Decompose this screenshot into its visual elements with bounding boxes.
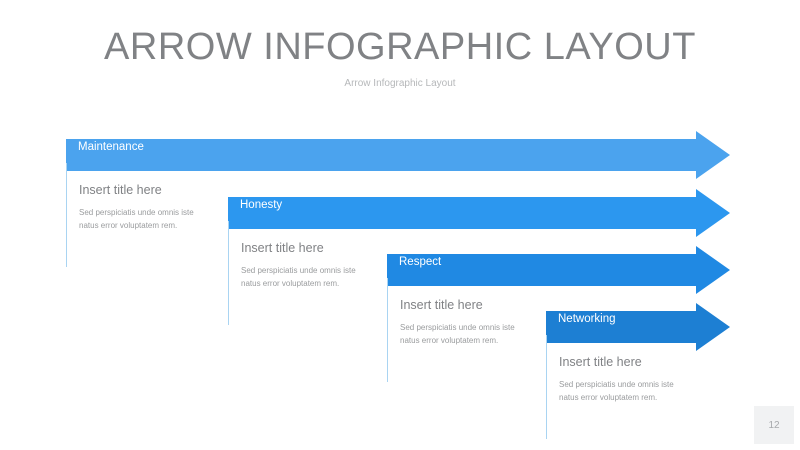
arrow-block-body-2: Sed perspiciatis unde omnis iste natus e…	[241, 264, 361, 290]
arrow-text-block-2: Insert title here Sed perspiciatis unde …	[228, 221, 378, 325]
arrow-block-title-4: Insert title here	[559, 355, 696, 369]
arrow-text-block-4: Insert title here Sed perspiciatis unde …	[546, 335, 696, 439]
page-number: 12	[754, 406, 794, 444]
page-title: ARROW INFOGRAPHIC LAYOUT	[0, 26, 800, 69]
page-subtitle: Arrow Infographic Layout	[0, 78, 800, 89]
arrow-block-body-1: Sed perspiciatis unde omnis iste natus e…	[79, 206, 199, 232]
arrow-block-title-1: Insert title here	[79, 183, 216, 197]
slide-canvas: ARROW INFOGRAPHIC LAYOUT Arrow Infograph…	[0, 0, 800, 450]
arrow-block-title-3: Insert title here	[400, 298, 537, 312]
arrow-block-title-2: Insert title here	[241, 241, 378, 255]
arrow-block-body-3: Sed perspiciatis unde omnis iste natus e…	[400, 321, 520, 347]
arrow-row-4[interactable]: Networking Insert title here Sed perspic…	[546, 303, 730, 439]
arrow-block-body-4: Sed perspiciatis unde omnis iste natus e…	[559, 378, 679, 404]
arrow-text-block-1: Insert title here Sed perspiciatis unde …	[66, 163, 216, 267]
arrow-text-block-3: Insert title here Sed perspiciatis unde …	[387, 278, 537, 382]
